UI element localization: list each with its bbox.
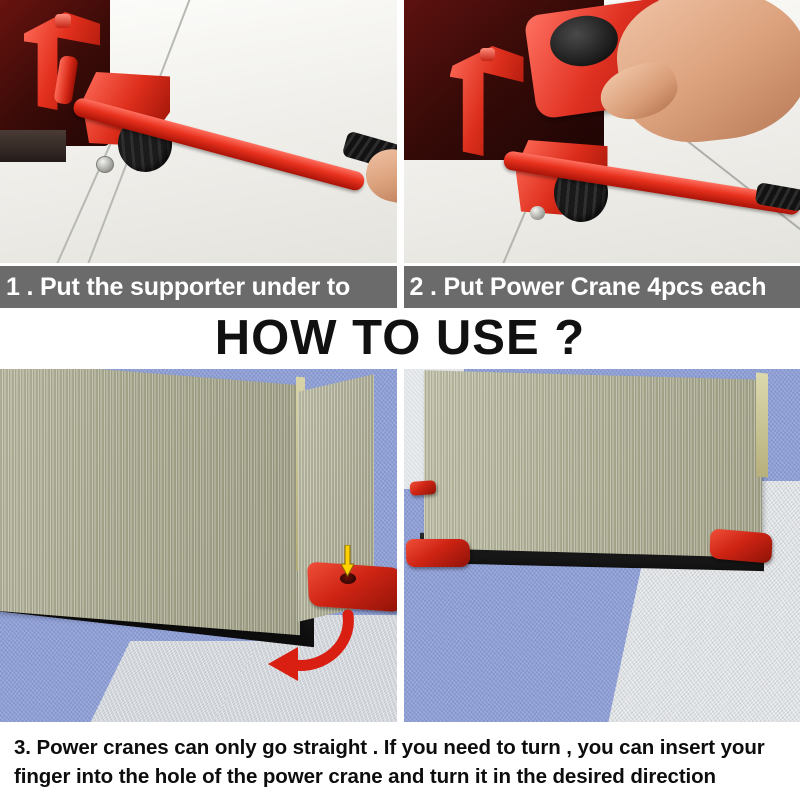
step-3-photo: [0, 369, 397, 722]
arrow-rotate-icon: [252, 607, 356, 681]
axle-bolt: [96, 156, 114, 173]
step-4-photo: [404, 369, 800, 722]
dark-furniture-shadow: [0, 130, 66, 162]
step-3-footer-caption: 3. Power cranes can only go straight . I…: [0, 733, 800, 791]
top-photo-row: [0, 0, 800, 263]
power-crane-slider: [405, 539, 470, 567]
bracket-bolt: [55, 14, 71, 28]
step-2-caption: 2 . Put Power Crane 4pcs each: [404, 266, 800, 308]
step-1-caption: 1 . Put the supporter under to: [0, 266, 397, 308]
step-1-photo: [0, 0, 397, 263]
furniture-edge-band: [756, 372, 768, 477]
furniture-front-panel: [424, 370, 762, 557]
bracket-bolt: [480, 48, 495, 61]
axle-bolt: [530, 206, 545, 220]
power-crane-slider: [709, 528, 772, 563]
furniture-front-panel: [0, 369, 300, 635]
arrow-down-icon: [341, 545, 354, 579]
bottom-photo-row: [0, 369, 800, 722]
step-caption-row: 1 . Put the supporter under to 2 . Put P…: [0, 266, 800, 308]
power-crane-slider: [409, 480, 436, 496]
instruction-sheet: 1 . Put the supporter under to 2 . Put P…: [0, 0, 800, 800]
page-title: HOW TO USE ?: [0, 310, 800, 366]
step-2-photo: [404, 0, 800, 263]
